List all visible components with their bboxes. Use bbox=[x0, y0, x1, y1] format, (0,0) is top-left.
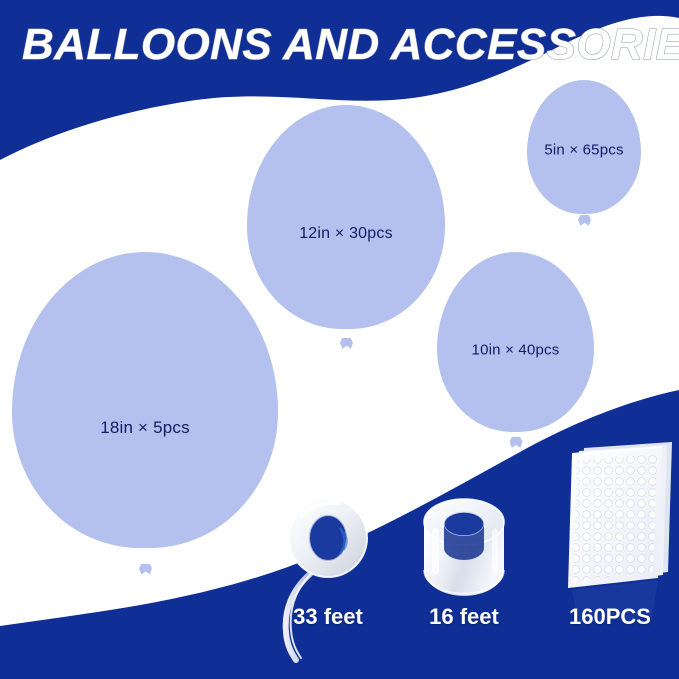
balloon-neck-knot bbox=[340, 338, 353, 349]
accessory-caption-33feet: 33 feet bbox=[293, 604, 363, 630]
balloon-18in: 18in × 5pcs bbox=[12, 252, 278, 588]
balloon-10in: 10in × 40pcs bbox=[437, 252, 594, 456]
balloon-body bbox=[12, 252, 278, 548]
product-infographic: BALLOONS AND ACCESSORIES 18in × 5pcs 12i… bbox=[0, 0, 679, 679]
accessory-caption-16feet: 16 feet bbox=[429, 604, 499, 630]
accessory-caption-160pcs: 160PCS bbox=[569, 604, 651, 630]
glue-dots-amount: 160 bbox=[569, 604, 606, 629]
balloon-label-5in: 5in × 65pcs bbox=[544, 142, 623, 159]
balloon-label-18in: 18in × 5pcs bbox=[100, 418, 190, 438]
balloon-neck-knot bbox=[578, 215, 591, 226]
balloon-label-10in: 10in × 40pcs bbox=[472, 342, 560, 359]
accessory-glue-dots: 160PCS bbox=[548, 432, 676, 677]
balloon-12in: 12in × 30pcs bbox=[247, 105, 445, 359]
balloon-5in: 5in × 65pcs bbox=[527, 80, 641, 232]
tape-roll-wide-icon bbox=[406, 486, 526, 616]
balloon-body bbox=[247, 105, 445, 329]
balloon-neck-knot bbox=[510, 437, 523, 448]
balloon-neck-knot bbox=[139, 564, 152, 575]
accessory-balloon-tape: 16 feet bbox=[406, 486, 526, 676]
accessory-balloon-strip: 33 feet bbox=[266, 486, 396, 676]
balloon-label-12in: 12in × 30pcs bbox=[299, 225, 393, 243]
glue-dot-sheet-icon bbox=[548, 432, 676, 622]
glue-dots-unit: PCS bbox=[606, 604, 651, 629]
tape-roll-thin-icon bbox=[266, 486, 396, 616]
